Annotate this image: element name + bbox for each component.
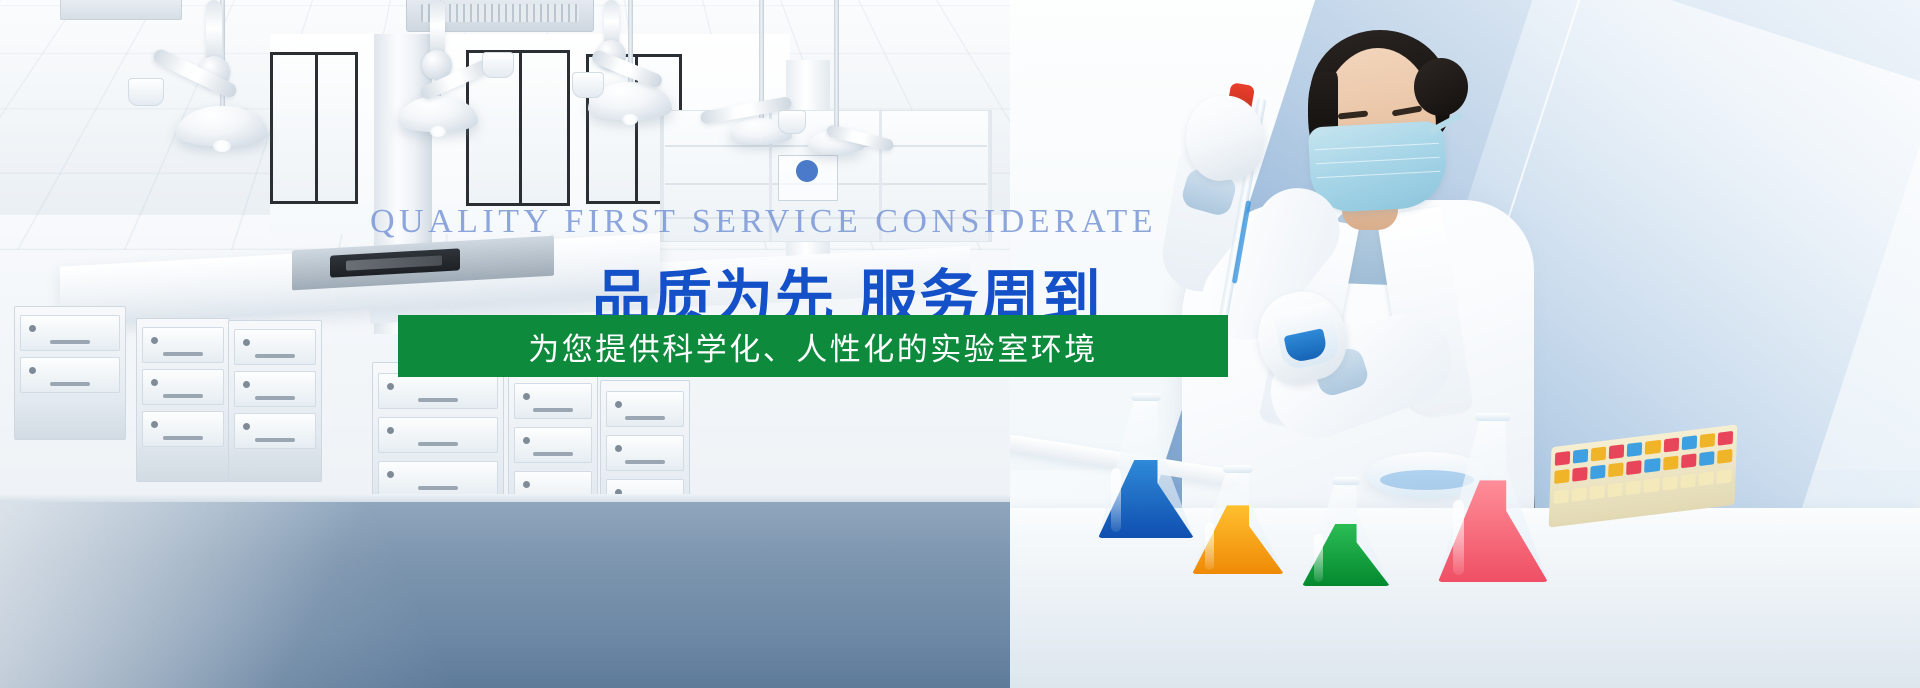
hero-banner: QUALITY FIRST SERVICE CONSIDERATE 品质为先 服… [0, 0, 1920, 688]
banner-text-overlay: QUALITY FIRST SERVICE CONSIDERATE 品质为先 服… [0, 0, 1920, 688]
english-tagline: QUALITY FIRST SERVICE CONSIDERATE [370, 203, 1157, 241]
banner-subtitle-band: 为您提供科学化、人性化的实验室环境 [398, 315, 1228, 377]
banner-subtitle: 为您提供科学化、人性化的实验室环境 [528, 324, 1098, 369]
